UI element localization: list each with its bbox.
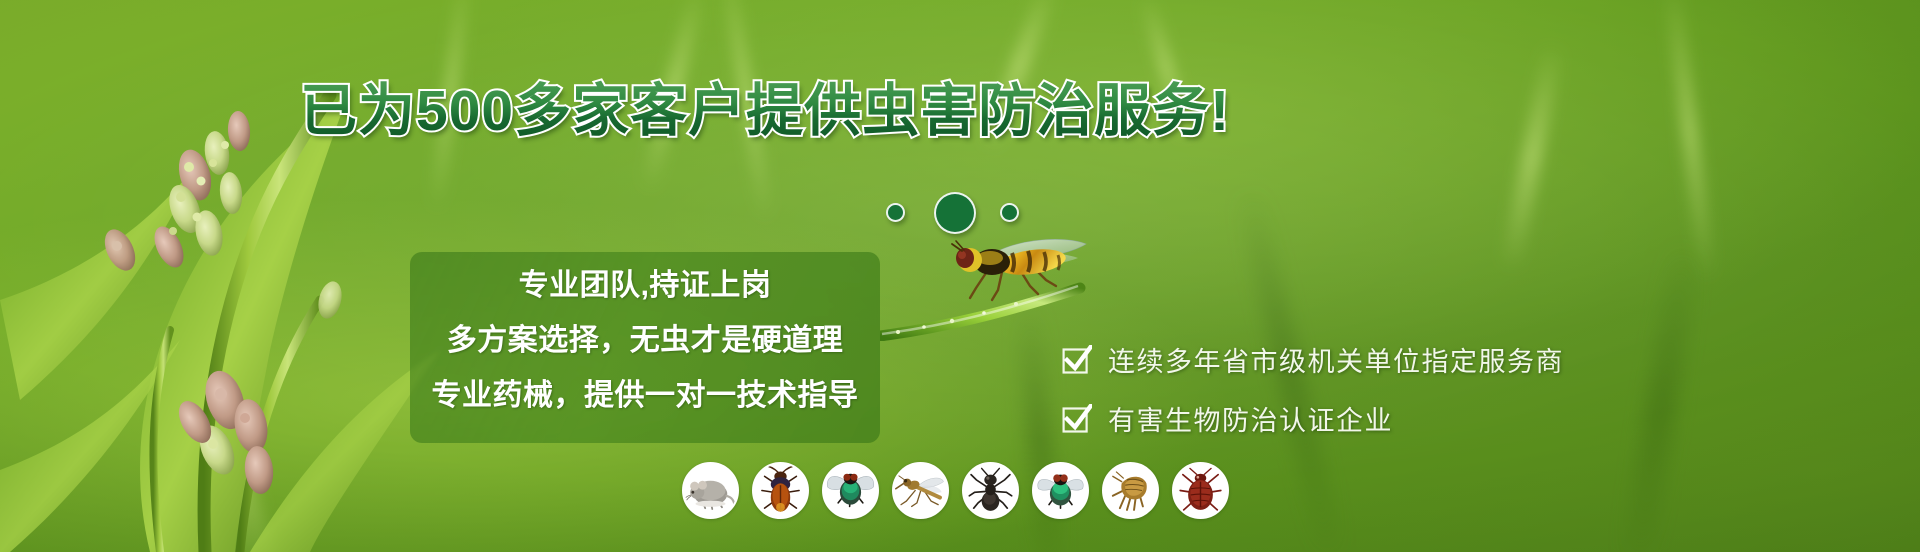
- credential-bullet-2-text: 有害生物防治认证企业: [1108, 399, 1393, 438]
- pest-icon-ant[interactable]: [962, 462, 1019, 519]
- promotional-banner: 已为500多家客户提供虫害防治服务! 已为500多家客户提供虫害防治服务!: [0, 0, 1920, 552]
- pest-icon-cockroach[interactable]: [752, 462, 809, 519]
- pest-icon-mosquito[interactable]: [892, 462, 949, 519]
- feature-line-2: 多方案选择，无虫才是硬道理: [410, 321, 880, 361]
- hoverfly-on-grass-stem-image: [880, 236, 1140, 341]
- credential-bullet-1-text: 连续多年省市级机关单位指定服务商: [1108, 340, 1564, 379]
- decorative-dot-large: [934, 192, 976, 234]
- page-title: 已为500多家客户提供虫害防治服务!: [300, 78, 1300, 144]
- feature-line-1: 专业团队,持证上岗: [410, 266, 880, 306]
- decorative-dot-small-right: [1000, 203, 1019, 222]
- pest-icon-bedbug[interactable]: [1172, 462, 1229, 519]
- credential-bullet-2: 有害生物防治认证企业: [1062, 399, 1393, 438]
- credential-bullet-1: 连续多年省市级机关单位指定服务商: [1062, 340, 1564, 379]
- decorative-dot-small-left: [886, 203, 905, 222]
- feature-highlight-box: 专业团队,持证上岗 多方案选择，无虫才是硬道理 专业药械，提供一对一技术指导: [410, 252, 880, 443]
- checkbox-check-icon: [1062, 404, 1092, 434]
- pest-icon-blowfly[interactable]: [1032, 462, 1089, 519]
- pest-icon-rat[interactable]: [682, 462, 739, 519]
- pest-icon-row: [682, 462, 1229, 519]
- feature-line-3: 专业药械，提供一对一技术指导: [410, 376, 880, 416]
- checkbox-check-icon: [1062, 345, 1092, 375]
- pest-icon-flea[interactable]: [1102, 462, 1159, 519]
- pest-icon-fly[interactable]: [822, 462, 879, 519]
